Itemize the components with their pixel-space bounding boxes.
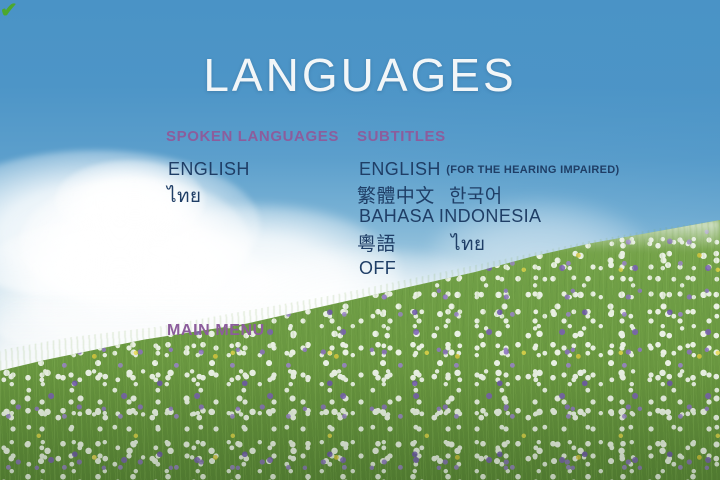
subtitle-option-traditional-chinese[interactable]: 繁體中文 bbox=[357, 181, 435, 208]
spoken-option-thai[interactable]: ไทย bbox=[167, 181, 201, 211]
subtitle-option-bahasa-indonesia[interactable]: BAHASA INDONESIA bbox=[359, 206, 541, 227]
selected-check-icon: ✔ bbox=[0, 0, 720, 21]
subtitle-option-label: ENGLISH bbox=[359, 159, 441, 179]
subtitle-option-english-hearing-impaired[interactable]: ENGLISH (FOR THE HEARING IMPAIRED) bbox=[359, 159, 619, 180]
subtitle-option-thai[interactable]: ไทย bbox=[451, 229, 485, 259]
subtitles-header: SUBTITLES bbox=[357, 128, 446, 145]
dvd-language-menu-screen: LANGUAGES SPOKEN LANGUAGES SUBTITLES ENG… bbox=[0, 0, 720, 480]
spoken-languages-header: SPOKEN LANGUAGES bbox=[166, 128, 339, 145]
spoken-option-english[interactable]: ENGLISH bbox=[168, 159, 250, 180]
subtitle-option-off[interactable]: OFF bbox=[359, 258, 396, 279]
subtitle-option-korean[interactable]: 한국어 bbox=[449, 181, 503, 208]
subtitle-option-cantonese[interactable]: 粵語 bbox=[357, 229, 396, 256]
main-menu-button[interactable]: MAIN MENU bbox=[167, 322, 265, 340]
menu-layer: LANGUAGES SPOKEN LANGUAGES SUBTITLES ENG… bbox=[0, 0, 720, 480]
hearing-impaired-note: (FOR THE HEARING IMPAIRED) bbox=[446, 164, 619, 176]
page-title: LANGUAGES bbox=[0, 48, 720, 102]
